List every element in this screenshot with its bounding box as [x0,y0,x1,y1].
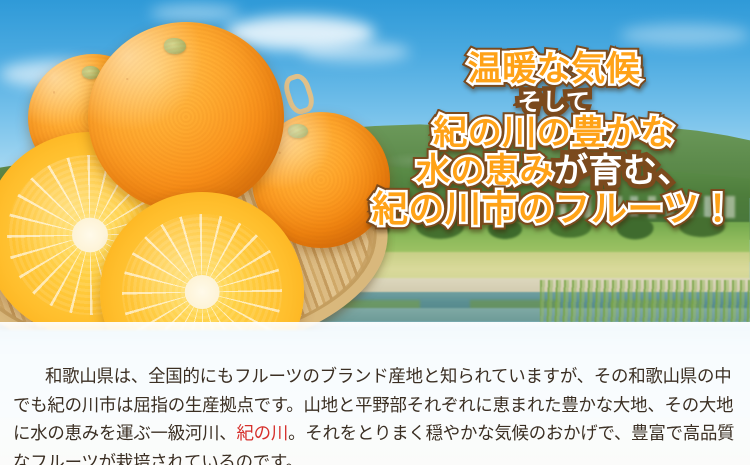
cloud [150,4,240,22]
headline-line-3: 紀の川の豊かな 紀の川の豊かな 紀の川の豊かな [358,116,750,150]
orange-core [72,217,108,252]
headline-group: 温暖な気候 温暖な気候 温暖な気候 そして そして 紀の川の豊かな 紀の川の豊か… [358,52,750,232]
headline-line-5: 紀の川市のフルーツ！ 紀の川市のフルーツ！ 紀の川市のフルーツ！ [358,192,750,228]
orange-whole-main [88,22,284,212]
promo-banner: 温暖な気候 温暖な気候 温暖な気候 そして そして 紀の川の豊かな 紀の川の豊か… [0,0,750,465]
description-text: 和歌山県は、全国的にもフルーツのブランド産地と知られていますが、その和歌山県の中… [0,322,750,465]
panel-top-edge [0,322,750,328]
headline-line-4a-text: 水の恵み [416,151,554,191]
description-panel: 和歌山県は、全国的にもフルーツのブランド産地と知られていますが、その和歌山県の中… [0,322,750,465]
headline-line-4b-text: が育む、 [554,151,692,191]
headline-line-2-text: そして [518,88,591,116]
orange-flesh-texture [122,214,281,330]
orange-stem-icon [288,124,308,138]
orange-stem-icon [164,38,186,54]
headline-line-3-text: 紀の川の豊かな [433,113,675,153]
headline-line-1-text: 温暖な気候 [468,49,641,89]
orange-core [185,275,220,309]
tall-grass [540,280,750,322]
headline-line-1: 温暖な気候 温暖な気候 温暖な気候 [358,52,750,86]
headline-line-4: 水の恵み 水の恵み 水の恵み が育む、 が育む、 [358,154,750,188]
cloud [620,24,750,46]
description-highlight-kinokawa: 紀の川 [236,424,288,444]
headline-line-5-text: 紀の川市のフルーツ！ [372,189,736,230]
hero-photo: 温暖な気候 温暖な気候 温暖な気候 そして そして 紀の川の豊かな 紀の川の豊か… [0,0,750,330]
headline-line-2: そして そして [358,90,750,114]
